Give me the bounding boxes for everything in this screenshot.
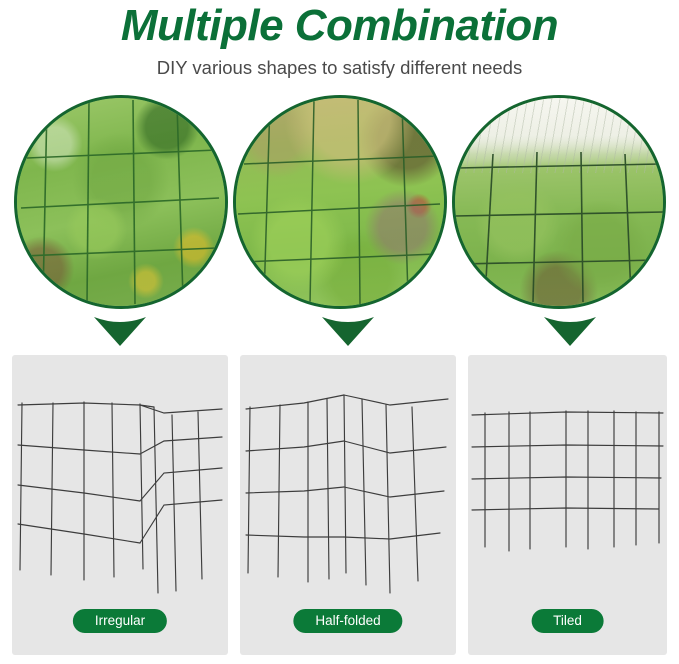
panel-label-irregular[interactable]: Irregular: [73, 609, 167, 633]
photo-circle-row: [0, 93, 679, 309]
photo-clip: [17, 98, 225, 306]
trellis-net-overlay-icon: [17, 98, 225, 306]
trellis-diagram-tiled: [468, 355, 667, 600]
trellis-net-overlay-icon: [455, 98, 663, 306]
photo-circle-garden-trellis-cucumber-bed: [14, 95, 228, 309]
product-feature-graphic: Multiple Combination DIY various shapes …: [0, 0, 679, 664]
trellis-diagram-half-folded: [240, 355, 456, 600]
chevron-down-icon: [320, 315, 376, 347]
photo-circle-garden-trellis-leafy-rows: [233, 95, 447, 309]
shape-panel-irregular[interactable]: Irregular: [12, 355, 228, 655]
panel-label-half-folded[interactable]: Half-folded: [293, 609, 402, 633]
trellis-net-overlay-icon: [236, 98, 444, 306]
panel-label-tiled[interactable]: Tiled: [531, 609, 604, 633]
shape-panel-half-folded[interactable]: Half-folded: [240, 355, 456, 655]
chevron-down-icon: [92, 315, 148, 347]
chevron-down-icon: [542, 315, 598, 347]
photo-clip: [455, 98, 663, 306]
shape-panel-tiled[interactable]: Tiled: [468, 355, 667, 655]
photo-clip: [236, 98, 444, 306]
page-subtitle: DIY various shapes to satisfy different …: [0, 56, 679, 80]
page-title: Multiple Combination: [0, 0, 679, 52]
photo-circle-greenhouse-trellis-rows: [452, 95, 666, 309]
trellis-diagram-irregular: [12, 355, 228, 600]
